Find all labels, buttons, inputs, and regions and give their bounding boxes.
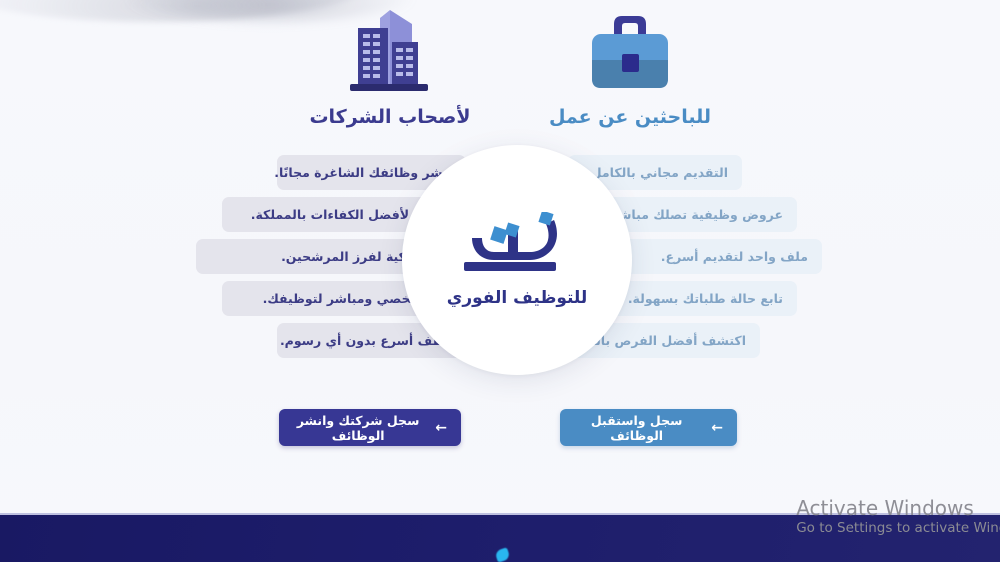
arrow-left-icon: ← [435, 421, 447, 435]
seekers-title: للباحثين عن عمل [480, 106, 780, 128]
brand-tagline: للتوظيف الفوري [447, 288, 588, 308]
register-seeker-button-label: سجل واستقبل الوظائف [574, 413, 699, 443]
arrow-left-icon: ← [711, 421, 723, 435]
brand-logo: للتوظيف الفوري [402, 145, 632, 375]
register-seeker-button[interactable]: ← سجل واستقبل الوظائف [560, 409, 737, 446]
brand-wordmark-icon [442, 212, 592, 286]
seekers-column-header: للباحثين عن عمل [480, 0, 780, 128]
register-company-button-label: سجل شركتك وانشر الوظائف [293, 413, 423, 443]
register-company-button[interactable]: ← سجل شركتك وانشر الوظائف [279, 409, 461, 446]
briefcase-icon [480, 0, 780, 100]
page-root: لأصحاب الشركات للباحثين عن عمل انشر وظائ… [0, 0, 1000, 562]
